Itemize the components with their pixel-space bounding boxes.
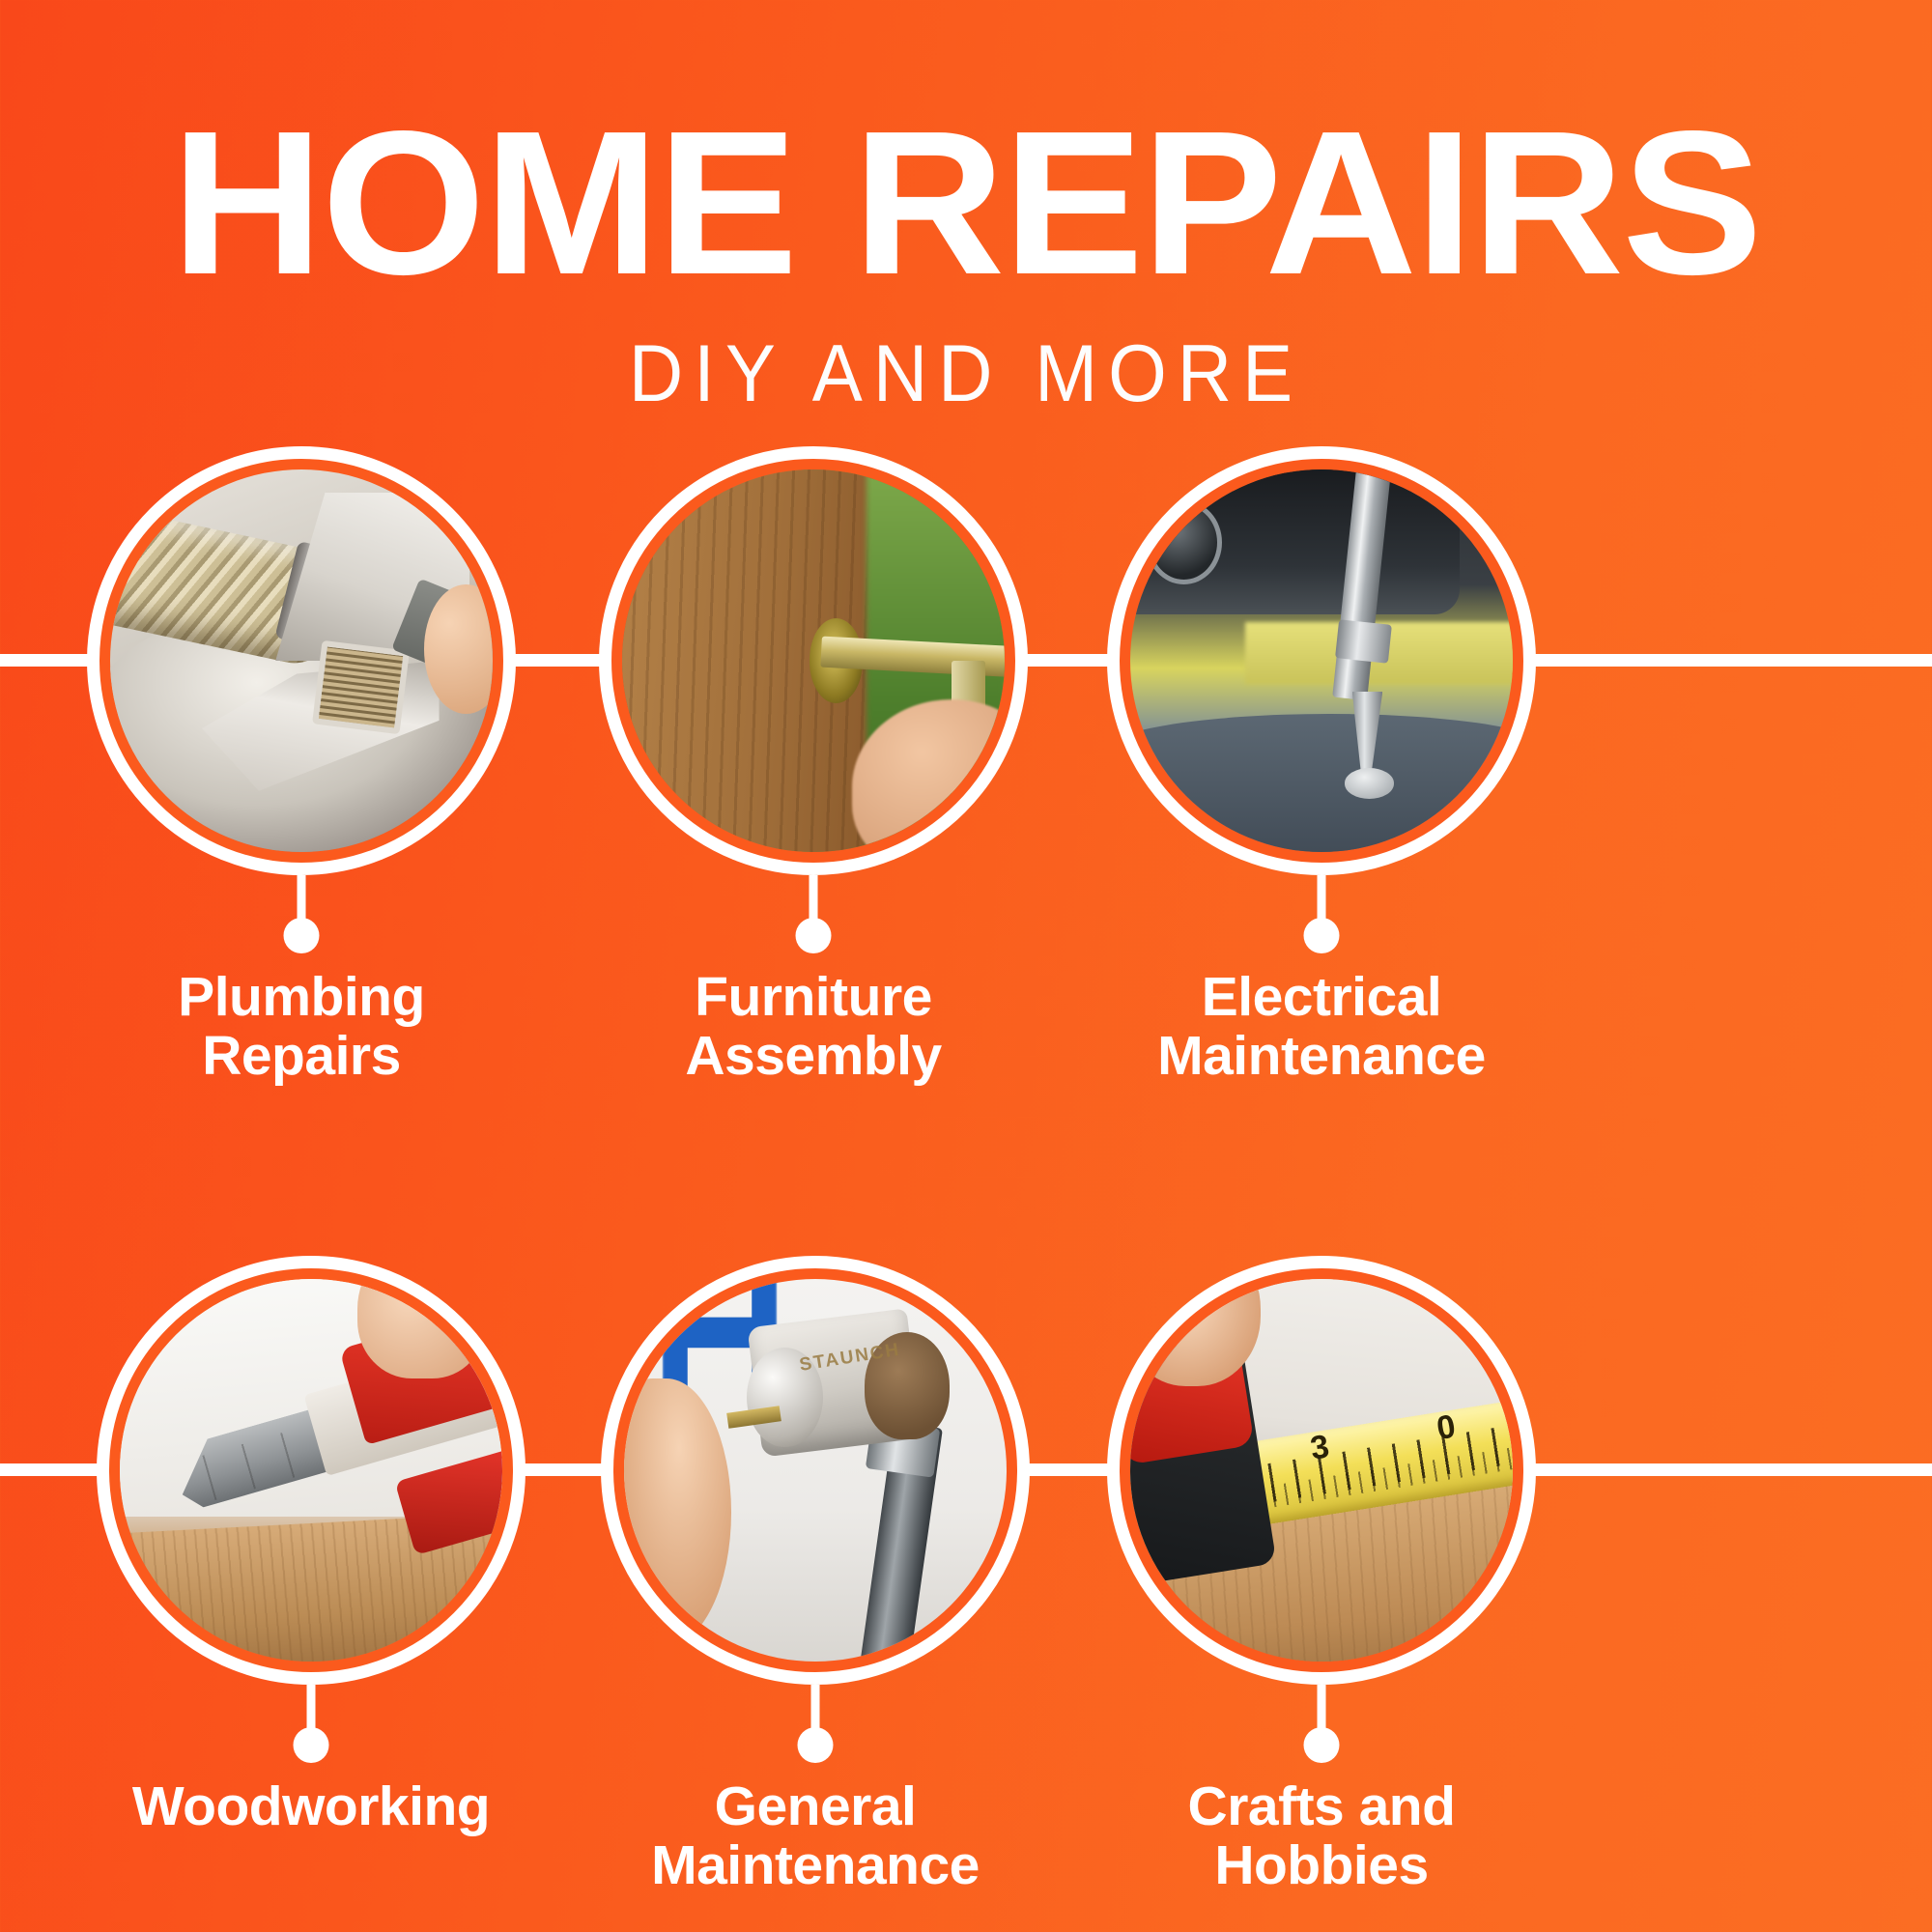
adjustable-wrench-photo [110, 469, 493, 852]
pin-connector [798, 1685, 834, 1763]
category-label-line2: Maintenance [543, 1836, 1088, 1895]
category-row-1: Plumbing Repairs Furniture Assembly [0, 446, 1932, 949]
photo-bubble[interactable] [97, 1256, 526, 1685]
category-label-line1: General [543, 1777, 1088, 1836]
category-label-line2: Hobbies [1049, 1836, 1594, 1895]
category-label-line1: Plumbing [29, 968, 574, 1027]
category-label-line2: Repairs [29, 1027, 574, 1086]
category-label: Furniture Assembly [541, 968, 1086, 1086]
category-item-crafts-and-hobbies[interactable]: 9 3 0 1 2 3 Crafts and Hobbies [1107, 1256, 1536, 1685]
pin-connector [796, 875, 832, 953]
category-label-line1: Woodworking [39, 1777, 583, 1836]
utility-knife-photo [120, 1279, 502, 1662]
allen-key-photo [622, 469, 1005, 852]
pin-connector [1304, 875, 1340, 953]
photo-bubble[interactable] [87, 446, 516, 875]
category-row-2: Woodworking STAUNCH General Maintenance [0, 1256, 1932, 1758]
category-label: Plumbing Repairs [29, 968, 574, 1086]
category-label-line1: Electrical [1049, 968, 1594, 1027]
page-subtitle: DIY AND MORE [0, 327, 1932, 420]
category-label: Crafts and Hobbies [1049, 1777, 1594, 1895]
category-label: Electrical Maintenance [1049, 968, 1594, 1086]
photo-bubble[interactable] [1107, 446, 1536, 875]
category-label-line1: Furniture [541, 968, 1086, 1027]
category-label-line2: Maintenance [1049, 1027, 1594, 1086]
category-label: Woodworking [39, 1777, 583, 1836]
photo-bubble[interactable]: STAUNCH [601, 1256, 1030, 1685]
category-label-line1: Crafts and [1049, 1777, 1594, 1836]
pin-connector [294, 1685, 329, 1763]
category-label: General Maintenance [543, 1777, 1088, 1895]
category-item-electrical-maintenance[interactable]: Electrical Maintenance [1107, 446, 1536, 875]
category-item-furniture-assembly[interactable]: Furniture Assembly [599, 446, 1028, 875]
category-item-general-maintenance[interactable]: STAUNCH General Maintenance [601, 1256, 1030, 1685]
pin-connector [1304, 1685, 1340, 1763]
poster-header: HOME REPAIRS DIY AND MORE [0, 0, 1932, 414]
category-item-woodworking[interactable]: Woodworking [97, 1256, 526, 1685]
screwdriver-bit-photo [1130, 469, 1513, 852]
tape-measure-photo: 9 3 0 1 2 3 [1130, 1279, 1513, 1662]
photo-bubble[interactable]: 9 3 0 1 2 3 [1107, 1256, 1536, 1685]
category-item-plumbing-repairs[interactable]: Plumbing Repairs [87, 446, 516, 875]
page-title: HOME REPAIRS [0, 100, 1932, 305]
category-label-line2: Assembly [541, 1027, 1086, 1086]
hammer-nail-photo: STAUNCH [624, 1279, 1007, 1662]
pin-connector [284, 875, 320, 953]
photo-bubble[interactable] [599, 446, 1028, 875]
